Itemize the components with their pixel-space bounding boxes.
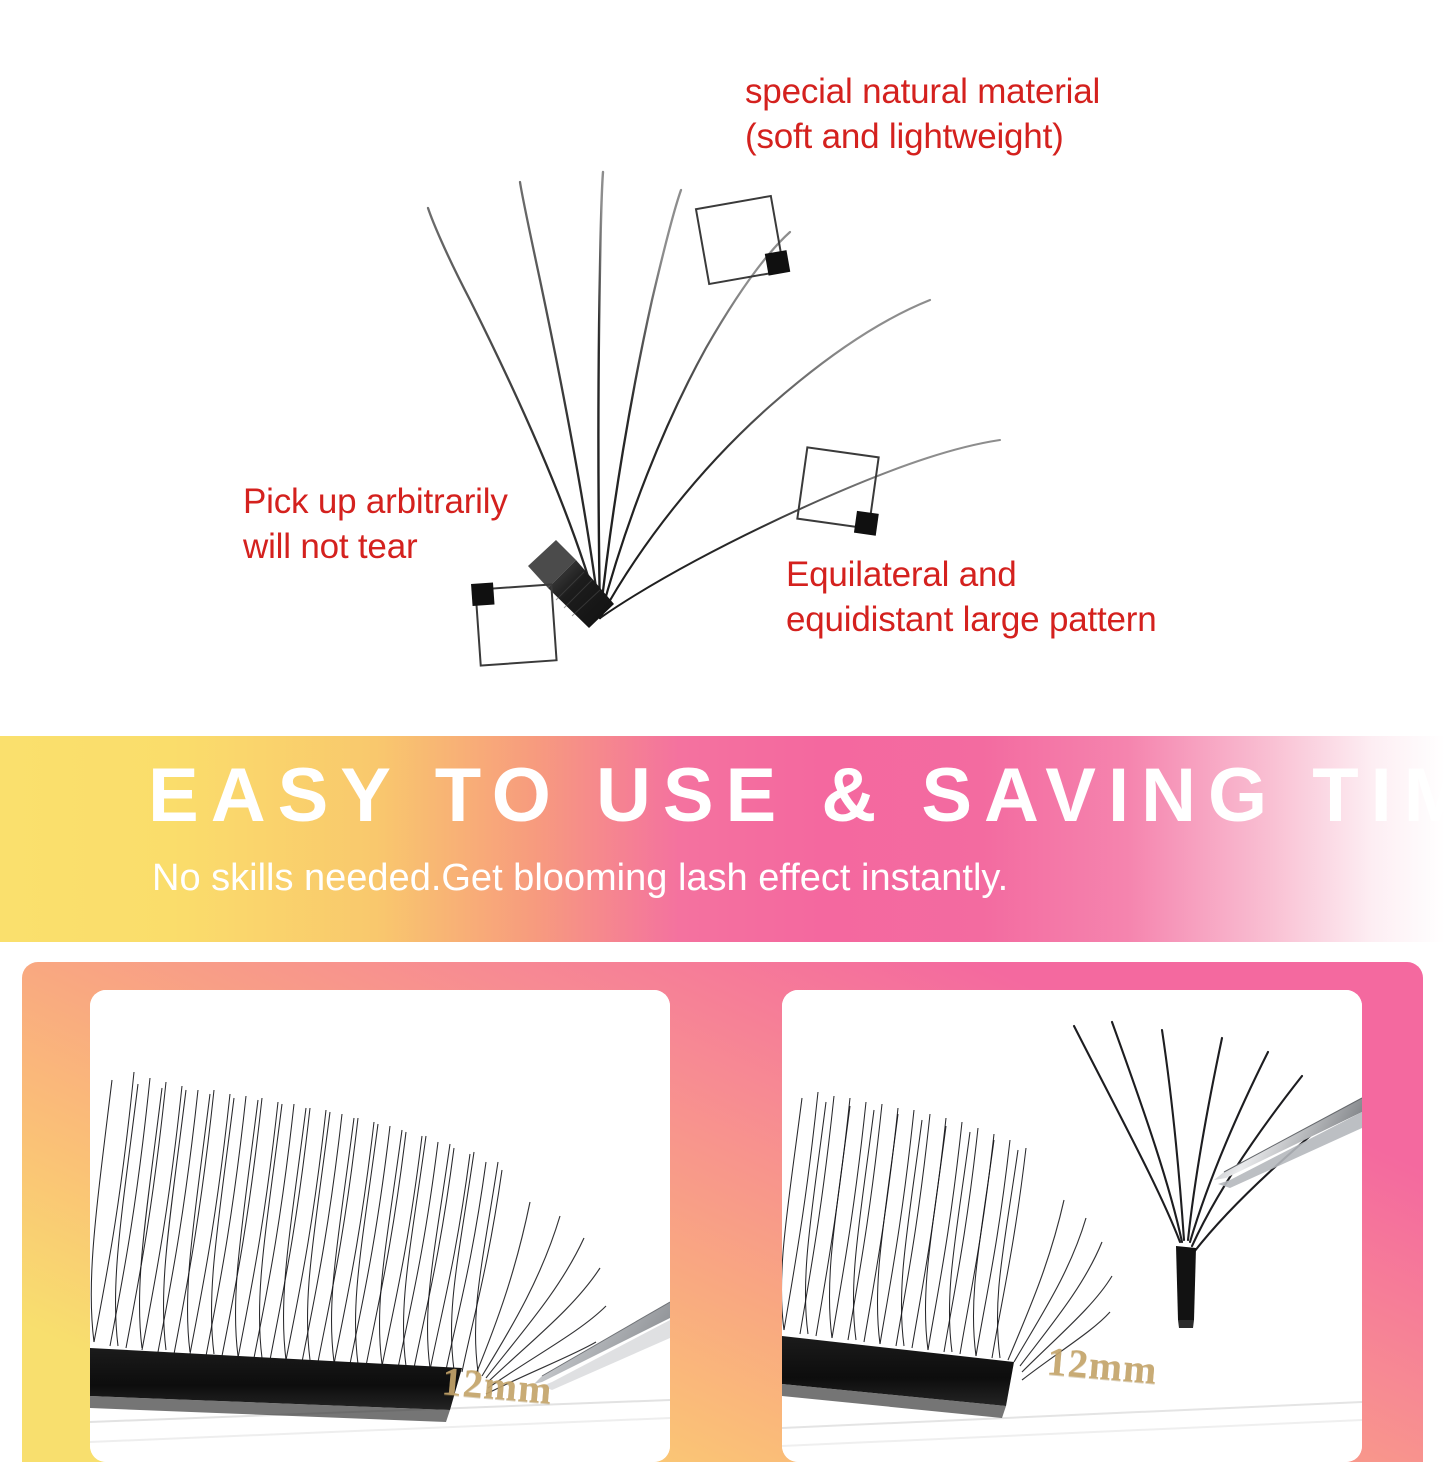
photo-card-lash-tray: 12mm — [90, 990, 670, 1462]
lash-length-label: 12mm — [1045, 1337, 1159, 1393]
lash-length-label: 12mm — [440, 1357, 554, 1413]
callout-marker-3 — [471, 578, 557, 665]
promo-banner: EASY TO USE & SAVING TIME No skills need… — [0, 736, 1445, 942]
callout-pick-up-arbitrarily: Pick up arbitrarily will not tear — [243, 480, 508, 570]
callout-equilateral-equidistant: Equilateral and equidistant large patter… — [786, 553, 1157, 643]
banner-subtitle: No skills needed.Get blooming lash effec… — [152, 859, 1008, 897]
photo-card-lash-fan-pickup: 12mm — [782, 990, 1362, 1462]
callout-marker-1 — [696, 195, 790, 286]
lash-fan-illustration — [0, 0, 1445, 735]
banner-headline: EASY TO USE & SAVING TIME — [148, 758, 1445, 834]
product-photo-panel: 12mm — [22, 962, 1423, 1462]
feature-diagram-section: special natural material (soft and light… — [0, 0, 1445, 735]
callout-special-natural-material: special natural material (soft and light… — [745, 70, 1100, 160]
